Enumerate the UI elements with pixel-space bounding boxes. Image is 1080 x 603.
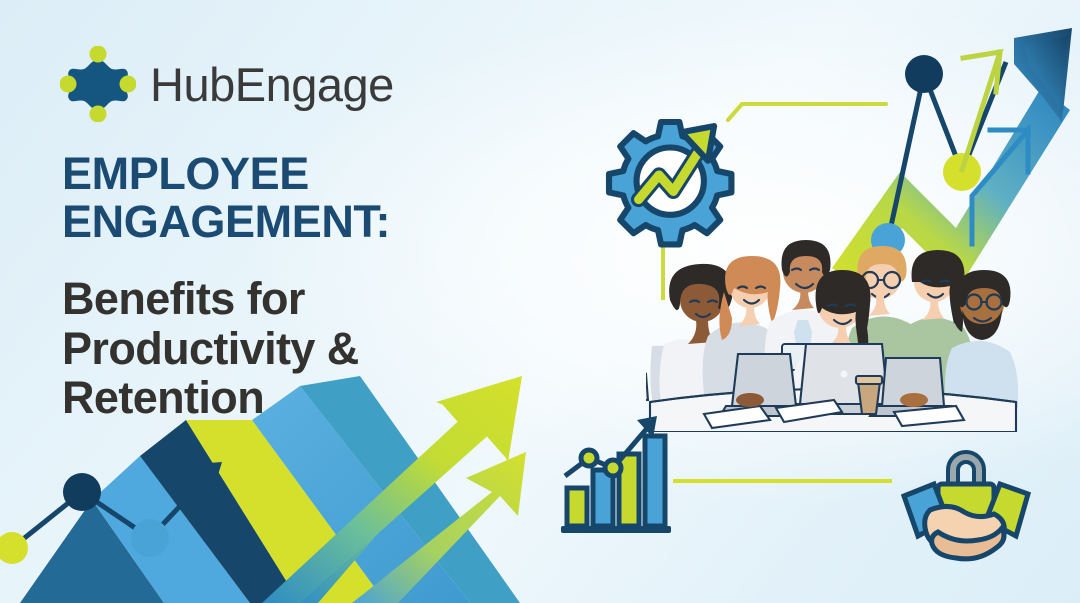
headline-line-2: ENGAGEMENT: <box>62 196 390 247</box>
logo-dot-right <box>120 76 137 93</box>
page-subtitle: Benefits for Productivity & Retention <box>62 274 532 423</box>
padlock-shackle <box>948 452 984 486</box>
subhead-line-3: Retention <box>62 372 264 423</box>
padlock-body <box>938 484 994 524</box>
sleeve-left <box>904 484 948 536</box>
hubengage-star-logo-icon <box>60 46 136 122</box>
sleeve-right <box>986 484 1028 536</box>
brand-logo[interactable]: HubEngage <box>60 46 394 122</box>
hand-left <box>736 393 764 407</box>
chair-left <box>646 374 648 400</box>
bar-chart-growth-icon <box>561 416 671 533</box>
poster-canvas: .ln{fill:none;stroke:#1f3b57;stroke-widt… <box>0 0 1080 603</box>
logo-dot-top <box>90 46 107 63</box>
green-arrow-lower <box>352 452 526 603</box>
hand-shake-upper <box>925 506 1005 553</box>
brand-name: HubEngage <box>150 61 394 108</box>
logo-dot-bottom <box>90 106 107 123</box>
outline-arrow-up-right-green <box>962 52 1000 170</box>
headline-line-1: EMPLOYEE <box>62 148 309 199</box>
hand-right <box>900 393 928 407</box>
handshake-padlock-icon <box>904 452 1028 559</box>
team-meeting-illustration: .ln{fill:none;stroke:#1f3b57;stroke-widt… <box>646 196 1018 432</box>
subhead-line-1: Benefits for <box>62 273 305 324</box>
subhead-line-2: Productivity & <box>62 323 359 374</box>
logo-dot-left <box>60 76 77 93</box>
logo-star-shape <box>68 60 128 110</box>
hand-shake-lower <box>932 528 1004 559</box>
connector-line-green-top <box>728 104 886 120</box>
page-title: EMPLOYEE ENGAGEMENT: <box>62 150 532 246</box>
bottom-line-chart-nodes <box>0 462 222 564</box>
